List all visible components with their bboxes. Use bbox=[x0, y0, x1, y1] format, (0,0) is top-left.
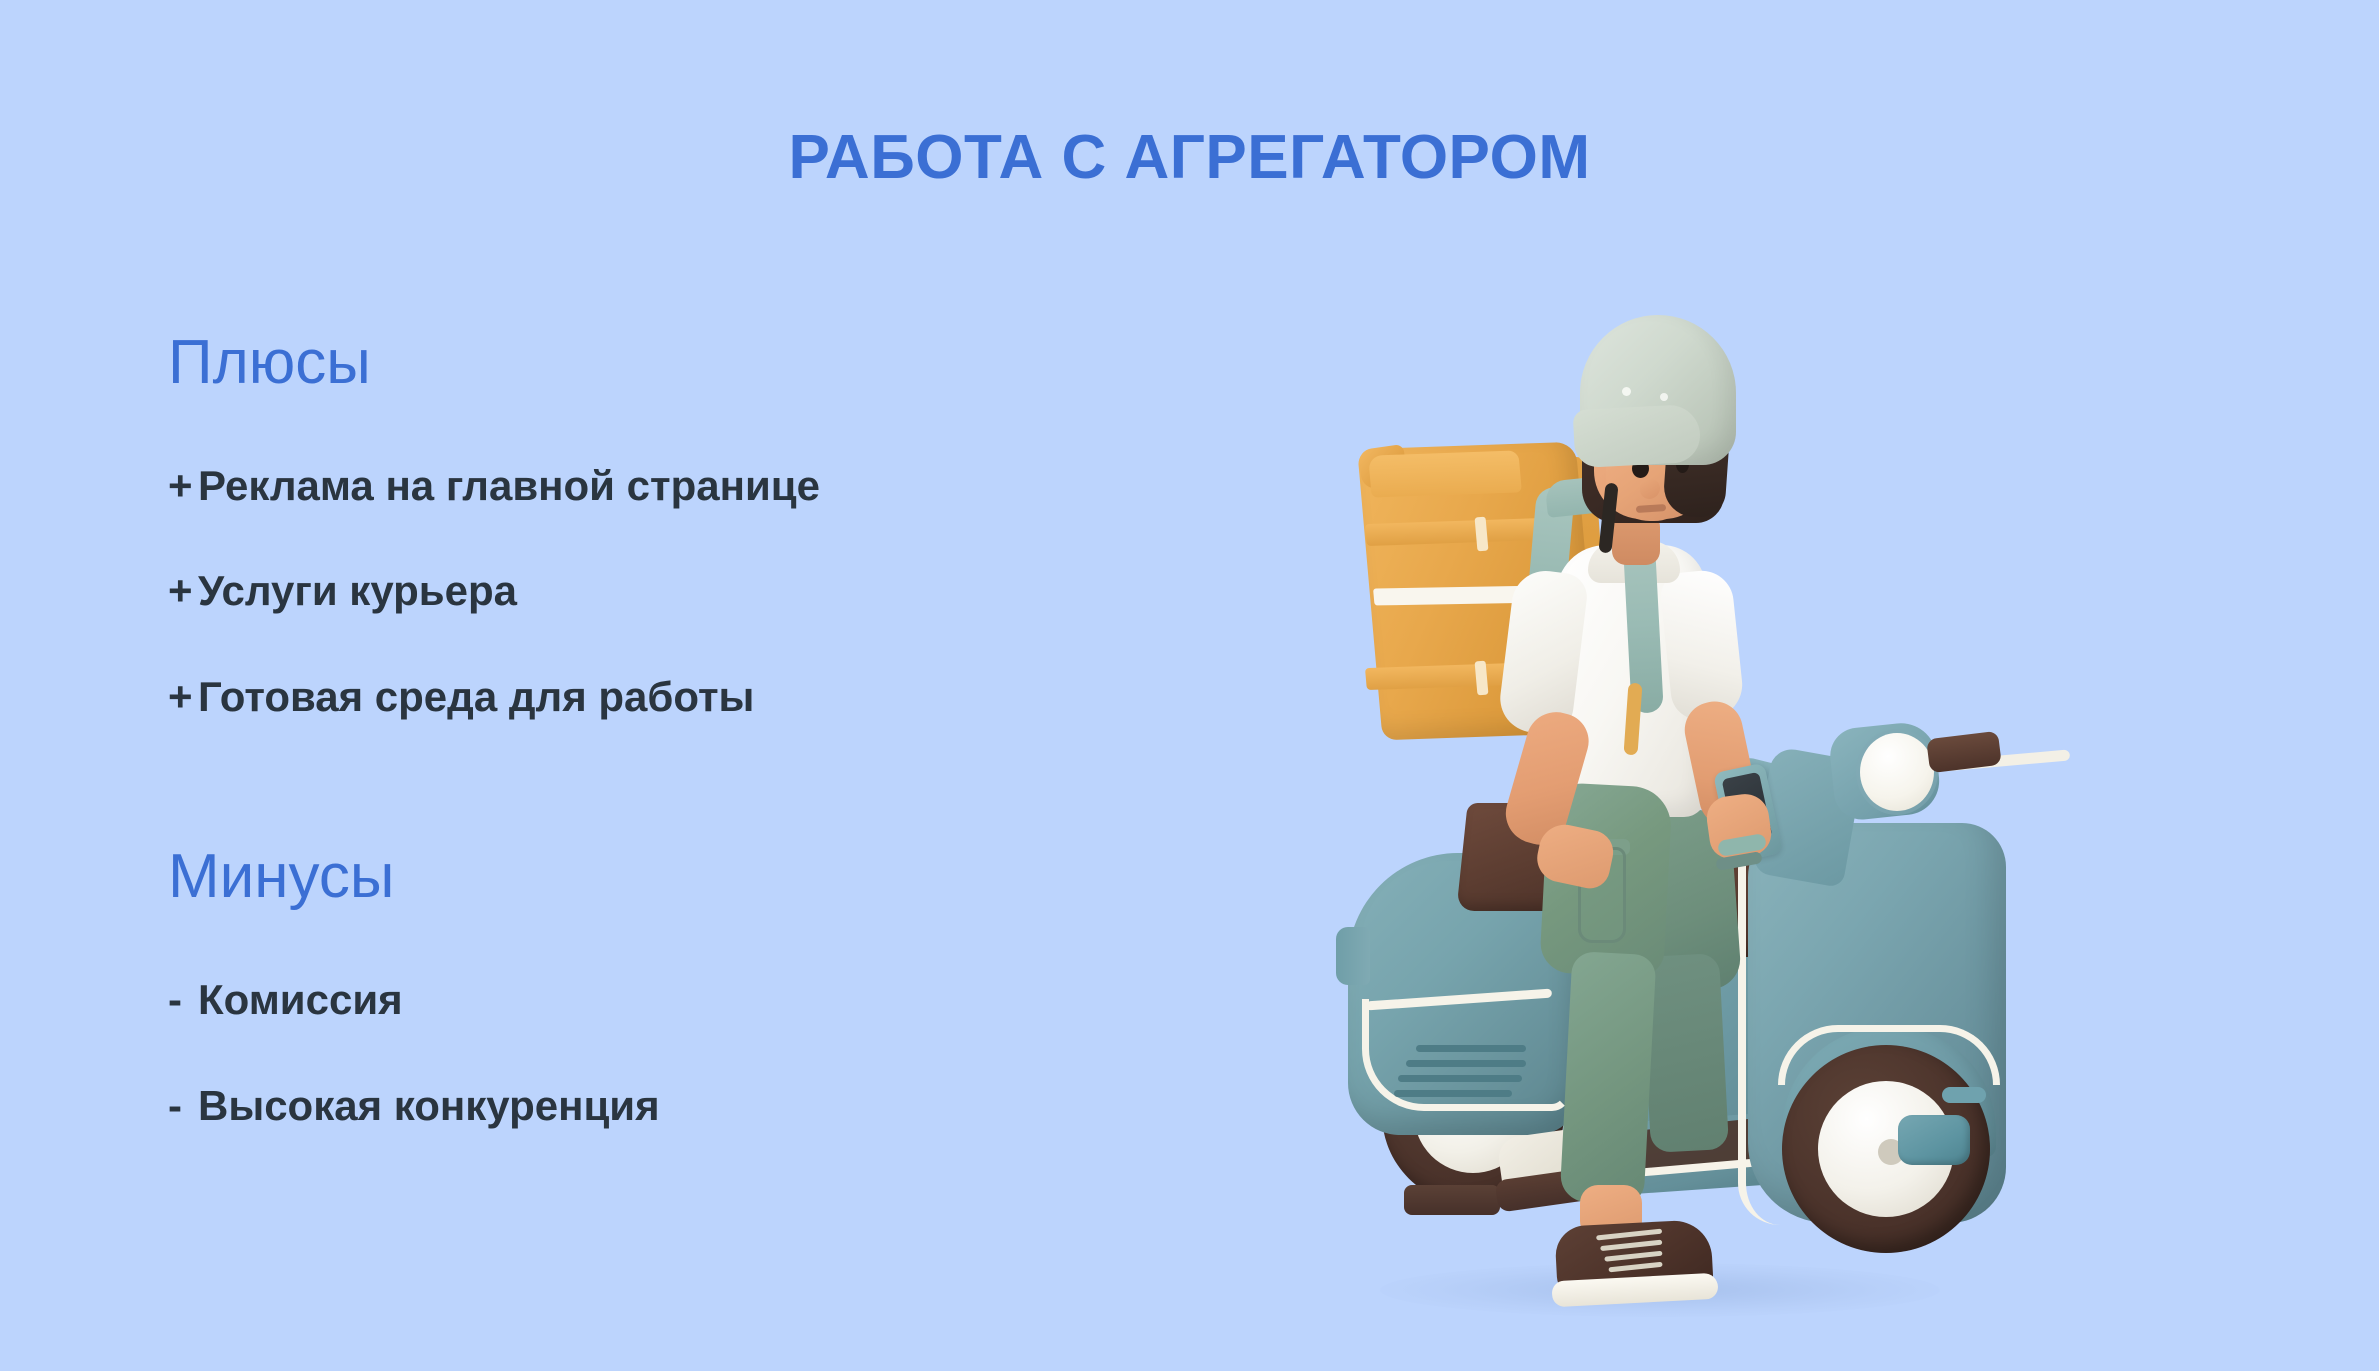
courier-on-scooter-illustration bbox=[1330, 255, 2050, 1365]
list-item-label: Высокая конкуренция bbox=[198, 1081, 660, 1131]
list-item: + Услуги курьера bbox=[168, 566, 1168, 616]
helmet-rivet bbox=[1660, 393, 1668, 401]
shoe-laces-icon bbox=[1596, 1227, 1684, 1278]
helmet-brim bbox=[1573, 404, 1702, 469]
bullet-plus-icon: + bbox=[168, 672, 198, 722]
list-item-label: Реклама на главной странице bbox=[198, 461, 820, 511]
section-heading-pros: Плюсы bbox=[168, 330, 1168, 395]
bullet-plus-icon: + bbox=[168, 461, 198, 511]
page-title: РАБОТА С АГРЕГАТОРОМ bbox=[0, 122, 2379, 193]
list-item: + Готовая среда для работы bbox=[168, 672, 1168, 722]
rider-shin bbox=[1560, 951, 1657, 1205]
list-item: + Реклама на главной странице bbox=[168, 461, 1168, 511]
rider-sleeve-right bbox=[1658, 568, 1745, 723]
content-column: Плюсы + Реклама на главной странице + Ус… bbox=[168, 330, 1168, 1131]
section-pros: Плюсы + Реклама на главной странице + Ус… bbox=[168, 330, 1168, 722]
slide-canvas: РАБОТА С АГРЕГАТОРОМ Плюсы + Реклама на … bbox=[0, 0, 2379, 1371]
section-cons: Минусы - Комиссия - Высокая конкуренция bbox=[168, 844, 1168, 1131]
section-heading-cons: Минусы bbox=[168, 844, 1168, 909]
list-item-label: Комиссия bbox=[198, 975, 403, 1025]
list-item: - Комиссия bbox=[168, 975, 1168, 1025]
backpack-flap bbox=[1368, 450, 1522, 497]
helmet-rivet bbox=[1622, 387, 1631, 396]
list-item-label: Готовая среда для работы bbox=[198, 672, 754, 722]
courier-figure bbox=[1330, 255, 2050, 1365]
bullet-plus-icon: + bbox=[168, 566, 198, 616]
list-item-label: Услуги курьера bbox=[198, 566, 517, 616]
list-item: - Высокая конкуренция bbox=[168, 1081, 1168, 1131]
bullet-minus-icon: - bbox=[168, 1081, 198, 1131]
bullet-minus-icon: - bbox=[168, 975, 198, 1025]
